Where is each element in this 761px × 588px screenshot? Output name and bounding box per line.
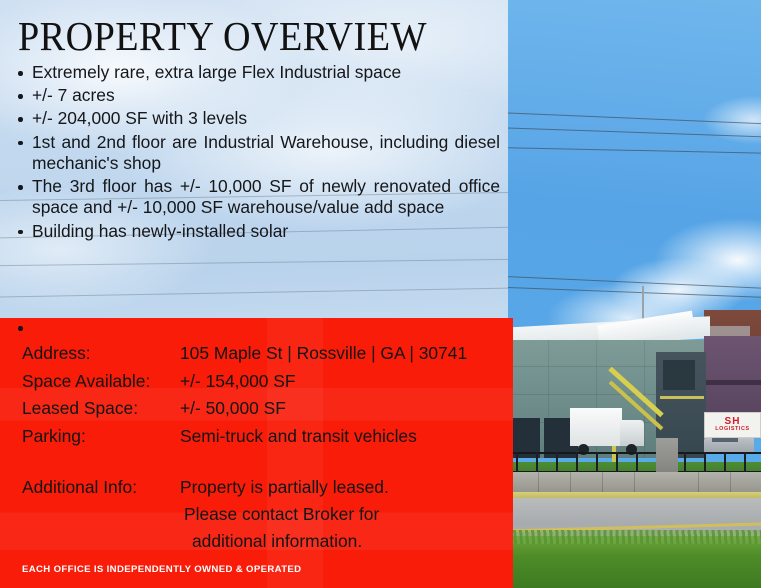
bullet-text: Extremely rare, extra large Flex Industr… (32, 62, 401, 82)
additional-info-line-3: additional information. (192, 528, 492, 555)
bullet-text: +/- 7 acres (32, 85, 115, 105)
list-item: +/- 7 acres (12, 85, 500, 106)
table-row: Address: 105 Maple St | Rossville | GA |… (22, 342, 492, 370)
table-row: Space Available: +/- 154,000 SF (22, 370, 492, 398)
property-highlights-list: Extremely rare, extra large Flex Industr… (12, 62, 500, 244)
spec-label: Space Available: (22, 370, 180, 398)
wall-joint (602, 472, 603, 494)
disclaimer-footer: EACH OFFICE IS INDEPENDENTLY OWNED & OPE… (22, 564, 301, 575)
additional-info-line-2: Please contact Broker for (184, 501, 492, 528)
spec-value: 105 Maple St | Rossville | GA | 30741 (180, 342, 492, 370)
list-item: 1st and 2nd floor are Industrial Warehou… (12, 132, 500, 174)
retaining-wall (508, 472, 761, 494)
spec-label: Parking: (22, 425, 180, 453)
fence-picket (516, 452, 518, 473)
wall-joint (698, 472, 699, 494)
list-item: The 3rd floor has +/- 10,000 SF of newly… (12, 176, 500, 218)
spec-value: +/- 154,000 SF (180, 370, 492, 398)
truck-cab (620, 420, 644, 446)
fence-picket (744, 452, 746, 473)
bullet-text: The 3rd floor has +/- 10,000 SF of newly… (32, 176, 500, 217)
building-band (704, 380, 761, 385)
photo-sky (508, 0, 761, 330)
foreground-grass (508, 536, 761, 588)
fence-picket (556, 452, 558, 473)
adjacent-purple-building (704, 336, 761, 422)
details-panel: Address: 105 Maple St | Rossville | GA |… (0, 318, 513, 588)
wall-joint (538, 472, 539, 494)
spec-label: Address: (22, 342, 180, 370)
spec-label: Leased Space: (22, 397, 180, 425)
fence-picket (724, 452, 726, 473)
power-line (0, 259, 513, 266)
additional-info-block: Additional Info: Property is partially l… (22, 474, 492, 555)
sh-logistics-sign: SH LOGISTICS (704, 412, 761, 438)
list-item: Extremely rare, extra large Flex Industr… (12, 62, 500, 83)
fence-picket (684, 452, 686, 473)
spec-value: Semi-truck and transit vehicles (180, 425, 492, 453)
additional-info-line-1: Property is partially leased. (180, 474, 389, 501)
property-photo: SH LOGISTICS (508, 0, 761, 588)
tower-railing (660, 396, 704, 399)
property-overview-slide: SH LOGISTICS (0, 0, 761, 588)
power-line (0, 288, 513, 298)
black-metal-fence (508, 452, 761, 474)
wall-joint (634, 472, 635, 494)
wall-joint (570, 472, 571, 494)
fence-picket (576, 452, 578, 473)
fence-picket (704, 452, 706, 473)
fence-picket (596, 452, 598, 473)
bullet-text: +/- 204,000 SF with 3 levels (32, 108, 247, 128)
page-title: PROPERTY OVERVIEW (18, 16, 427, 57)
bullet-text: Building has newly-installed solar (32, 221, 288, 241)
specs-table: Address: 105 Maple St | Rossville | GA |… (22, 342, 492, 453)
spec-value: +/- 50,000 SF (180, 397, 492, 425)
fence-picket (616, 452, 618, 473)
empty-bullet-marker (18, 326, 23, 331)
list-item: +/- 204,000 SF with 3 levels (12, 108, 500, 129)
fence-picket (636, 452, 638, 473)
table-row: Parking: Semi-truck and transit vehicles (22, 425, 492, 453)
table-row: Leased Space: +/- 50,000 SF (22, 397, 492, 425)
truck-cargo-box (570, 408, 622, 446)
tower-doorway (663, 360, 695, 390)
wall-joint (730, 472, 731, 494)
sign-line-2: LOGISTICS (715, 427, 749, 432)
bullet-text: 1st and 2nd floor are Industrial Warehou… (32, 132, 500, 173)
additional-info-label: Additional Info: (22, 474, 180, 501)
additional-info-first-row: Additional Info: Property is partially l… (22, 474, 492, 501)
list-item: Building has newly-installed solar (12, 221, 500, 242)
fence-picket (536, 452, 538, 473)
